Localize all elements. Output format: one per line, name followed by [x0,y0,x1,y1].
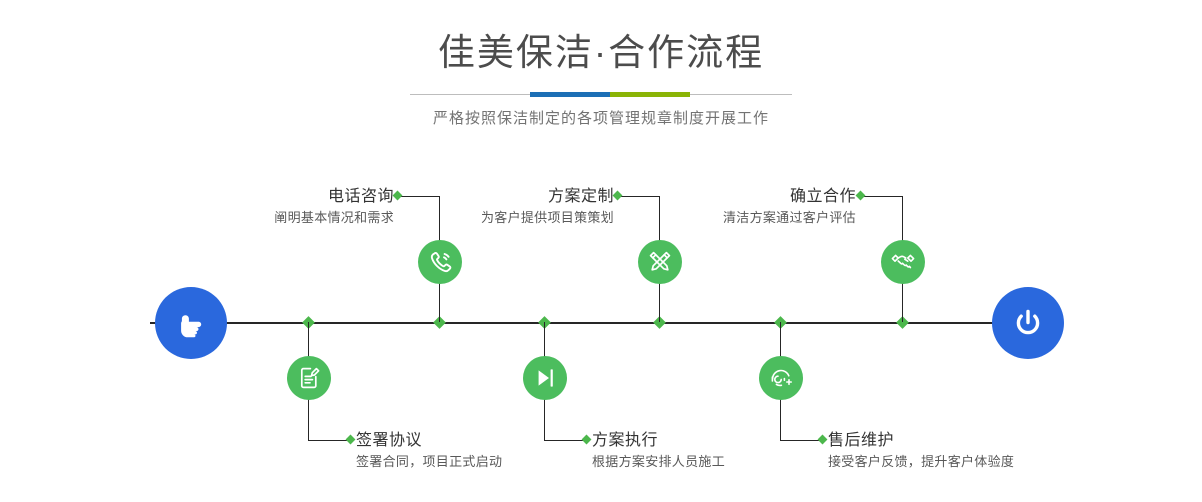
step-title-1: 电话咨询 [208,186,394,208]
divider-segment-blue [530,92,610,97]
connector-elbow-3 [618,196,660,197]
step-icon-circle-6[interactable] [759,356,803,400]
label-marker-6 [818,435,828,445]
handshake-icon [889,248,917,276]
connector-elbow-6 [780,440,822,441]
hand-pointing-icon [171,303,211,343]
step-label-5: 确立合作 清洁方案通过客户评估 [670,186,856,228]
title-divider [410,92,792,98]
connector-elbow-4 [544,440,586,441]
step-label-3: 方案定制 为客户提供项目策策划 [428,186,614,228]
power-icon [1008,303,1048,343]
step-label-1: 电话咨询 阐明基本情况和需求 [208,186,394,228]
step-subtitle-2: 签署合同，项目正式启动 [356,452,576,472]
step-label-6: 售后维护 接受客户反馈，提升客户体验度 [828,430,1088,472]
step-title-4: 方案执行 [592,430,812,452]
header: 佳美保洁·合作流程 严格按照保洁制定的各项管理规章制度开展工作 [0,30,1202,130]
step-subtitle-5: 清洁方案通过客户评估 [670,208,856,228]
connector-elbow-2 [308,440,350,441]
headset-support-icon [767,364,795,392]
step-title-2: 签署协议 [356,430,576,452]
label-marker-1 [393,191,403,201]
step-label-2: 签署协议 签署合同，项目正式启动 [356,430,576,472]
label-marker-2 [346,435,356,445]
step-label-4: 方案执行 根据方案安排人员施工 [592,430,812,472]
label-marker-3 [613,191,623,201]
step-icon-circle-5[interactable] [881,240,925,284]
step-subtitle-4: 根据方案安排人员施工 [592,452,812,472]
step-subtitle-6: 接受客户反馈，提升客户体验度 [828,452,1088,472]
timeline-start-node[interactable] [155,287,227,359]
label-marker-4 [582,435,592,445]
step-subtitle-3: 为客户提供项目策策划 [428,208,614,228]
divider-segment-green [610,92,690,97]
timeline-axis [150,322,1052,324]
pencil-ruler-icon [646,248,674,276]
document-sign-icon [295,364,323,392]
step-title-5: 确立合作 [670,186,856,208]
page-subtitle: 严格按照保洁制定的各项管理规章制度开展工作 [0,108,1202,130]
step-subtitle-1: 阐明基本情况和需求 [208,208,394,228]
step-icon-circle-4[interactable] [523,356,567,400]
step-icon-circle-3[interactable] [638,240,682,284]
connector-elbow-5 [861,196,903,197]
step-title-3: 方案定制 [428,186,614,208]
page-title: 佳美保洁·合作流程 [0,30,1202,76]
play-execute-icon [531,364,559,392]
phone-call-icon [426,248,454,276]
step-icon-circle-2[interactable] [287,356,331,400]
step-icon-circle-1[interactable] [418,240,462,284]
timeline-end-node[interactable] [992,287,1064,359]
step-title-6: 售后维护 [828,430,1088,452]
label-marker-5 [856,191,866,201]
flow-diagram: 佳美保洁·合作流程 严格按照保洁制定的各项管理规章制度开展工作 [0,0,1202,502]
